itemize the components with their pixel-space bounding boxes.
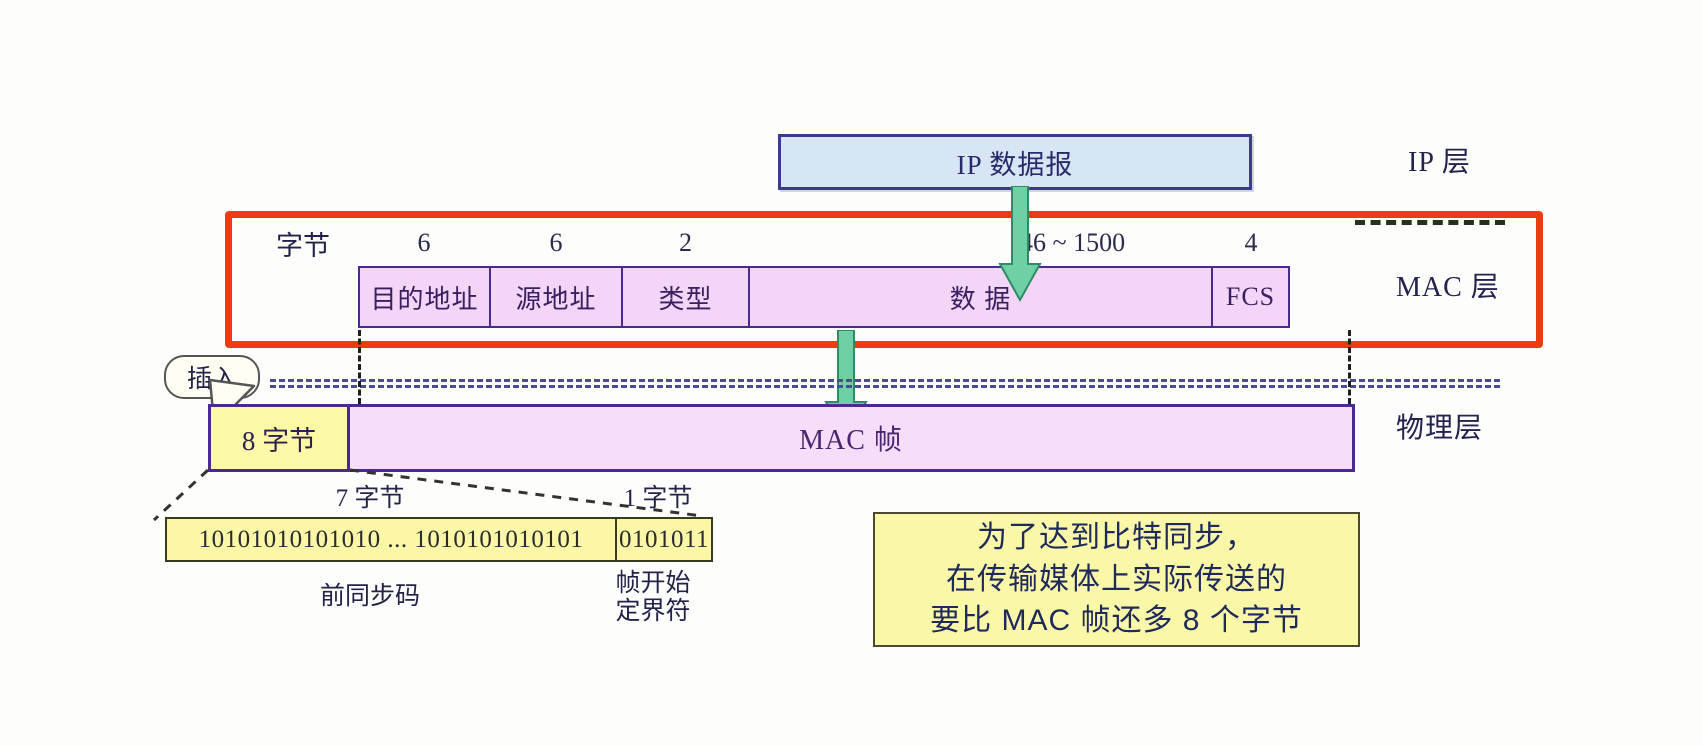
connector-right-dash bbox=[1348, 330, 1351, 404]
mac-field-type: 类型 bbox=[622, 266, 749, 328]
note-line-3: 要比 MAC 帧还多 8 个字节 bbox=[930, 600, 1303, 641]
preamble-1byte-size-label: 1 字节 bbox=[598, 478, 718, 514]
mac-field-data: 数 据 bbox=[749, 266, 1212, 328]
preamble-7byte-size-label: 7 字节 bbox=[240, 478, 500, 514]
layer-divider-mac-physical bbox=[270, 379, 1500, 382]
physical-mac-frame-label: MAC 帧 bbox=[799, 418, 903, 458]
field-size-data: 46 ~ 1500 bbox=[1020, 228, 1220, 258]
mac-field-type-label: 类型 bbox=[658, 279, 712, 316]
sfd-name-line2: 定界符 bbox=[598, 598, 708, 626]
sfd-name-label: 帧开始 定界符 bbox=[598, 570, 708, 626]
sfd-bits-cell: 0101011 bbox=[615, 519, 711, 560]
preamble-name-label: 前同步码 bbox=[240, 583, 500, 611]
mac-field-source-address: 源地址 bbox=[490, 266, 622, 328]
mac-field-source-address-label: 源地址 bbox=[515, 279, 596, 316]
mac-field-dest-address-label: 目的地址 bbox=[370, 279, 478, 316]
sfd-bits-text: 0101011 bbox=[619, 526, 709, 554]
preamble-8byte-box: 8 字节 bbox=[208, 404, 350, 472]
layer-label-physical: 物理层 bbox=[1396, 406, 1483, 446]
physical-layer-row: 8 字节 MAC 帧 bbox=[208, 404, 1355, 472]
preamble-bit-strip: 10101010101010 ... 1010101010101 0101011 bbox=[165, 517, 713, 562]
sfd-name-line1: 帧开始 bbox=[598, 570, 708, 598]
note-line-1: 为了达到比特同步， bbox=[977, 517, 1256, 558]
connector-left-dash bbox=[358, 330, 361, 404]
byte-unit-caption: 字节 bbox=[276, 224, 330, 263]
preamble-bits-cell: 10101010101010 ... 1010101010101 bbox=[167, 519, 615, 560]
layer-divider-mac-physical-second bbox=[270, 385, 1500, 388]
layer-divider-ip-mac bbox=[1355, 220, 1505, 225]
field-size-source-address: 6 bbox=[490, 228, 622, 258]
mac-field-fcs: FCS bbox=[1212, 266, 1290, 328]
note-line-2: 在传输媒体上实际传送的 bbox=[946, 559, 1287, 600]
mac-field-fcs-label: FCS bbox=[1226, 282, 1275, 312]
arrow-down-ip-to-data-icon bbox=[998, 186, 1042, 304]
preamble-8byte-label: 8 字节 bbox=[242, 419, 316, 458]
layer-label-ip: IP 层 bbox=[1408, 140, 1471, 180]
mac-field-dest-address: 目的地址 bbox=[358, 266, 490, 328]
field-size-dest-address: 6 bbox=[358, 228, 490, 258]
field-size-fcs: 4 bbox=[1212, 228, 1290, 258]
layer-label-mac: MAC 层 bbox=[1396, 265, 1500, 305]
mac-frame-fields: 目的地址 源地址 类型 数 据 FCS bbox=[358, 266, 1290, 328]
physical-mac-frame-box: MAC 帧 bbox=[350, 404, 1355, 472]
explanation-note-box: 为了达到比特同步， 在传输媒体上实际传送的 要比 MAC 帧还多 8 个字节 bbox=[873, 512, 1360, 647]
ip-datagram-box: IP 数据报 bbox=[778, 134, 1252, 190]
field-size-type: 2 bbox=[622, 228, 749, 258]
ip-datagram-label: IP 数据报 bbox=[957, 143, 1074, 182]
diagram-canvas: IP 数据报 IP 层 字节 6 6 2 46 ~ 1500 4 目的地址 源地… bbox=[0, 0, 1702, 746]
preamble-bits-text: 10101010101010 ... 1010101010101 bbox=[199, 526, 584, 554]
